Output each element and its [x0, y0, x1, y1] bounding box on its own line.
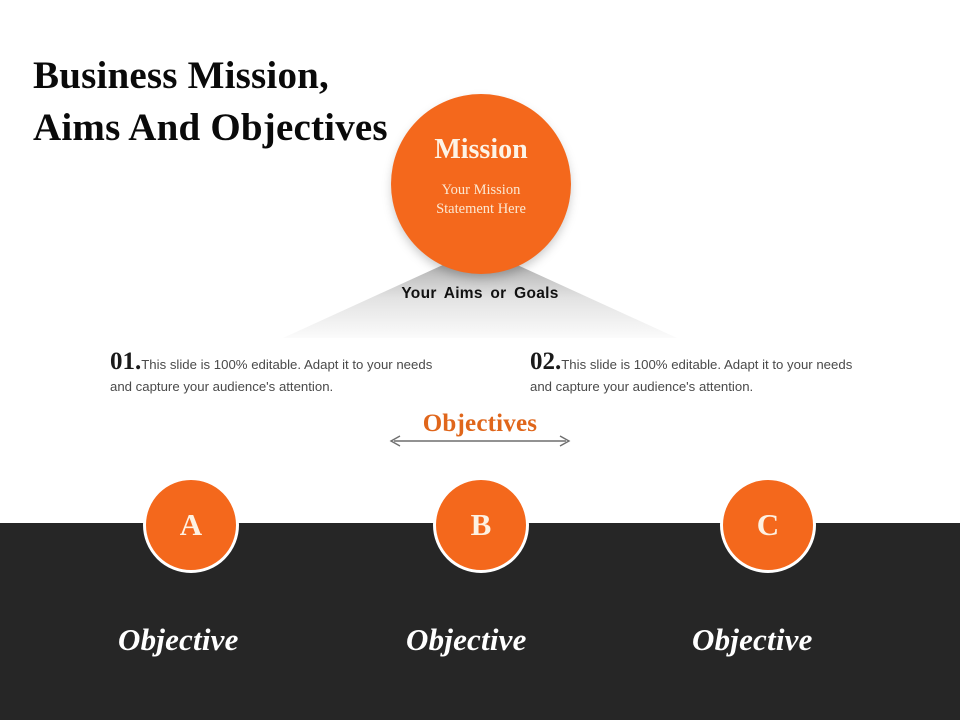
slide-canvas: Business Mission, Aims And Objectives Yo…	[0, 0, 960, 720]
objective-circle-b[interactable]: B	[433, 477, 529, 573]
objective-label-b: Objective	[406, 622, 706, 658]
mission-statement: Your Mission Statement Here	[436, 181, 526, 219]
mission-statement-line2: Statement Here	[436, 201, 526, 217]
objective-circle-a-letter: A	[180, 507, 202, 543]
aims-label: Your Aims or Goals	[283, 285, 677, 303]
objective-circle-c-letter: C	[757, 507, 779, 543]
point-01: 01.This slide is 100% editable. Adapt it…	[110, 348, 450, 397]
objective-circle-b-letter: B	[471, 507, 492, 543]
objective-label-a: Objective	[118, 622, 418, 658]
page-title: Business Mission, Aims And Objectives	[33, 50, 403, 154]
point-02-number: 02.	[530, 348, 561, 375]
double-arrow-icon	[388, 432, 572, 450]
point-02: 02.This slide is 100% editable. Adapt it…	[530, 348, 870, 397]
point-02-text: This slide is 100% editable. Adapt it to…	[530, 357, 852, 394]
objective-circle-a[interactable]: A	[143, 477, 239, 573]
point-01-text: This slide is 100% editable. Adapt it to…	[110, 357, 432, 394]
mission-circle[interactable]: Mission Your Mission Statement Here	[391, 94, 571, 274]
mission-statement-line1: Your Mission	[442, 182, 521, 198]
objective-circle-c[interactable]: C	[720, 477, 816, 573]
mission-heading: Mission	[434, 136, 527, 164]
objective-label-c: Objective	[692, 622, 960, 658]
point-01-number: 01.	[110, 348, 141, 375]
